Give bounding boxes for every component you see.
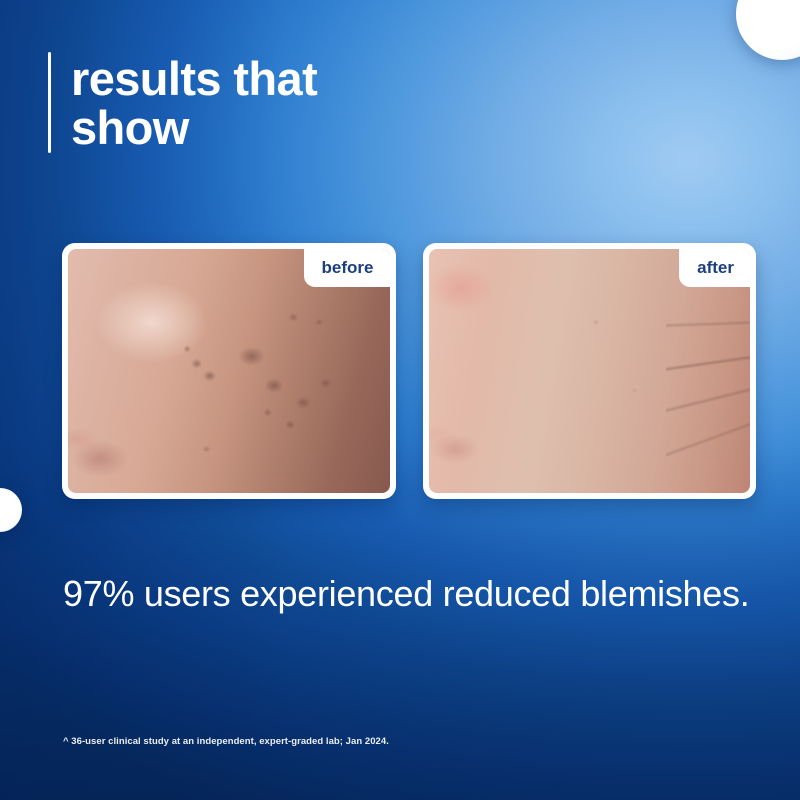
after-card: after	[423, 243, 757, 499]
before-after-comparison: before after	[62, 243, 756, 499]
before-skin-photo: before	[68, 249, 390, 493]
title-text: results that show	[71, 52, 317, 153]
page-title: results that show	[48, 52, 317, 153]
study-footnote: ^ 36-user clinical study at an independe…	[63, 736, 389, 747]
results-that-show-slide: results that show before after 97% users…	[0, 0, 800, 800]
after-badge: after	[679, 249, 750, 287]
title-accent-rule	[48, 52, 51, 153]
claim-statement: 97% users experienced reduced blemishes.	[63, 572, 763, 615]
before-card: before	[62, 243, 396, 499]
before-badge: before	[304, 249, 390, 287]
after-skin-photo: after	[429, 249, 751, 493]
